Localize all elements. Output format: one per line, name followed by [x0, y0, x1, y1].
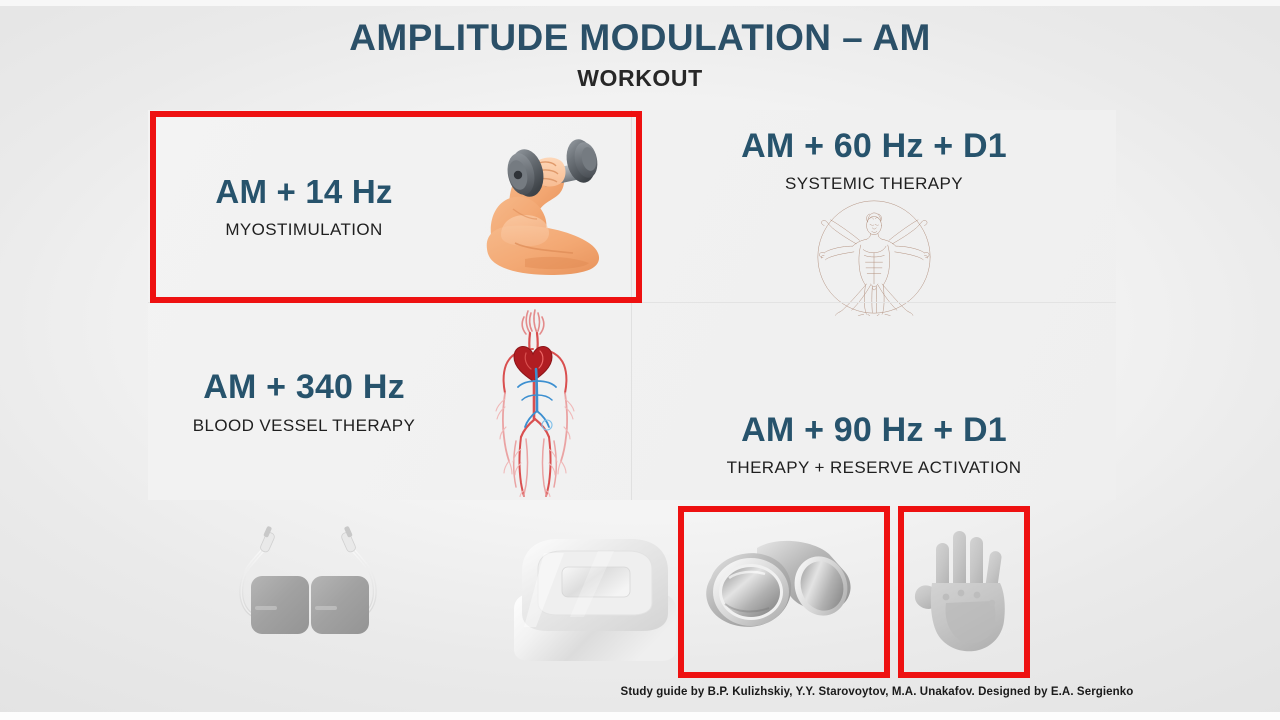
title-block: AMPLITUDE MODULATION – AM WORKOUT [0, 18, 1280, 92]
modes-panel: AM + 14 Hz MYOSTIMULATION [148, 110, 1116, 500]
flexed-bicep-dumbbell-icon [438, 131, 631, 281]
footer-credit: Study guide by B.P. Kulizhskiy, Y.Y. Sta… [0, 686, 1280, 698]
letterbox-top [0, 0, 1280, 6]
modes-grid: AM + 14 Hz MYOSTIMULATION [148, 110, 1116, 500]
accessory-glove-electrode[interactable] [898, 506, 1030, 678]
device-unit-icon [500, 517, 690, 667]
slide-canvas: AMPLITUDE MODULATION – AM WORKOUT AM + 1… [0, 0, 1280, 720]
mode-description: THERAPY + RESERVE ACTIVATION [727, 458, 1022, 478]
mode-description: MYOSTIMULATION [170, 220, 438, 240]
accessory-electrode-pads[interactable] [190, 506, 440, 678]
mode-frequency: AM + 14 Hz [170, 173, 438, 211]
mode-card-reserve-activation[interactable]: AM + 90 Hz + D1 THERAPY + RESERVE ACTIVA… [632, 302, 1116, 500]
vitruvian-man-icon [771, 198, 977, 316]
credit-text: Study guide by B.P. Kulizhskiy, Y.Y. Sta… [621, 686, 1134, 698]
mode-card-systemic-therapy[interactable]: AM + 60 Hz + D1 SYSTEMIC THERAPY [632, 110, 1116, 302]
mode-description: BLOOD VESSEL THERAPY [170, 416, 438, 436]
page-subtitle: WORKOUT [0, 65, 1280, 92]
page-title: AMPLITUDE MODULATION – AM [0, 18, 1280, 58]
glove-electrode-icon [908, 525, 1020, 659]
circulatory-system-icon [438, 307, 631, 497]
electrode-pads-icon [215, 522, 415, 662]
accessories-row [150, 506, 1116, 678]
accessory-cuff-electrodes[interactable] [678, 506, 890, 678]
mode-frequency: AM + 60 Hz + D1 [741, 127, 1007, 166]
mode-description: SYSTEMIC THERAPY [785, 174, 963, 194]
letterbox-bottom [0, 712, 1280, 720]
cuff-electrodes-icon [695, 526, 873, 658]
mode-frequency: AM + 340 Hz [170, 368, 438, 407]
mode-frequency: AM + 90 Hz + D1 [741, 411, 1007, 450]
mode-card-myostimulation[interactable]: AM + 14 Hz MYOSTIMULATION [148, 110, 632, 302]
mode-card-blood-vessel-therapy[interactable]: AM + 340 Hz BLOOD VESSEL THERAPY [148, 302, 632, 500]
